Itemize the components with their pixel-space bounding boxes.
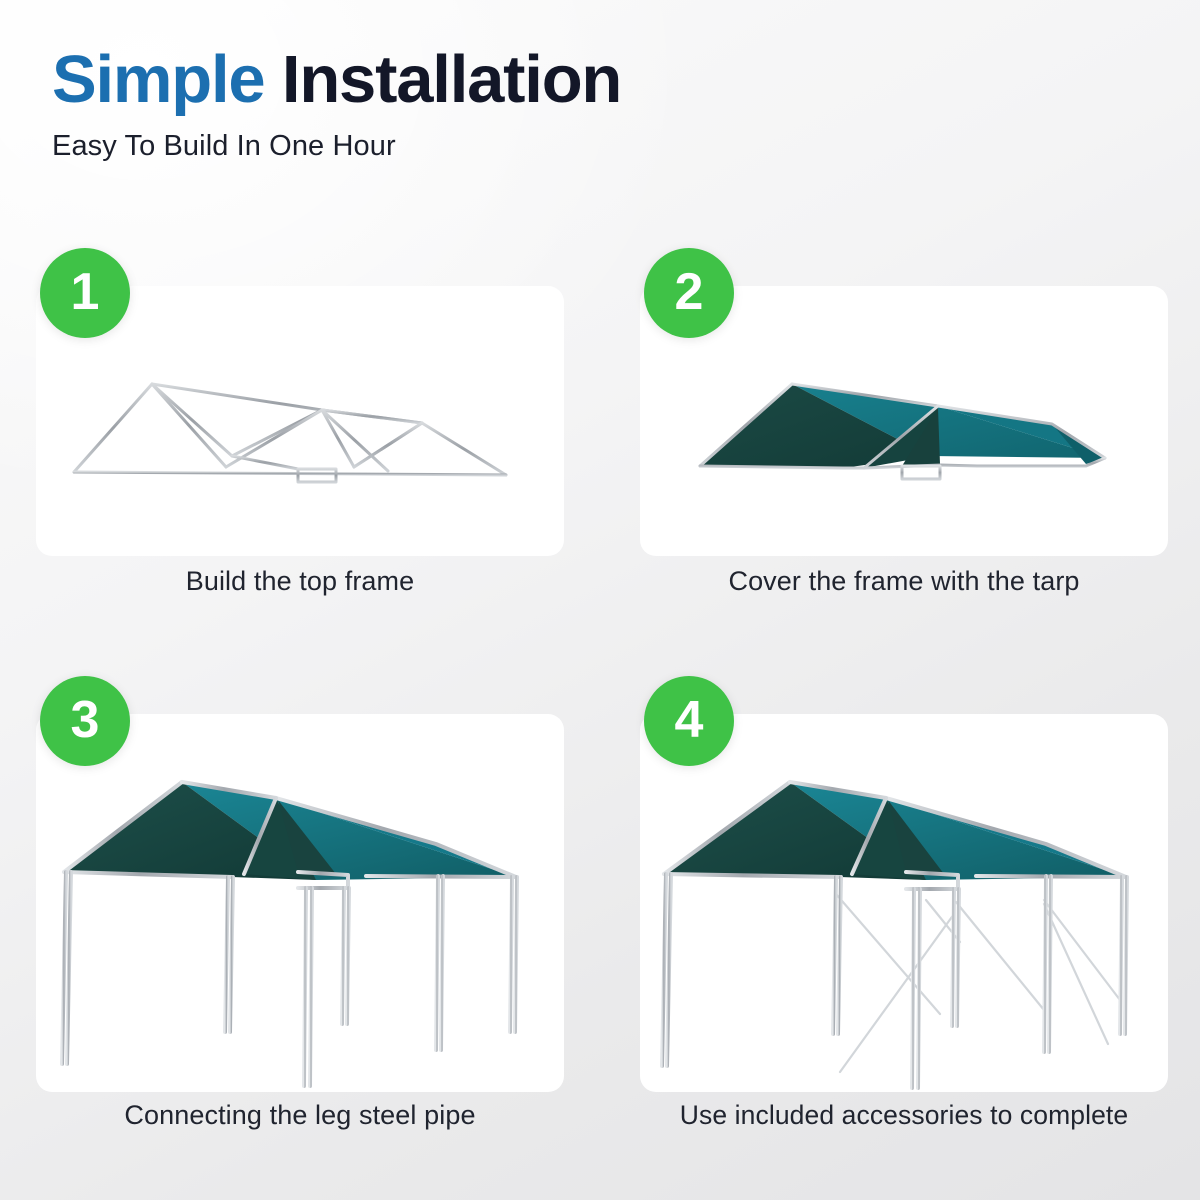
carport-bare-roof-frame-illustration bbox=[36, 286, 564, 556]
step-number-badge-3: 3 bbox=[40, 676, 130, 766]
step-card-3: 3 Connecting the leg steel pipe bbox=[36, 676, 564, 1106]
page-header: Simple Installation Easy To Build In One… bbox=[52, 46, 1152, 163]
step-3-image-card bbox=[36, 714, 564, 1092]
step-caption-4: Use included accessories to complete bbox=[640, 1100, 1168, 1131]
carport-roof-with-tarp-illustration bbox=[640, 286, 1168, 556]
step-card-1: 1 Build the top frame bbox=[36, 248, 564, 678]
carport-with-legs-illustration bbox=[36, 714, 564, 1092]
page-title-accent: Simple bbox=[52, 42, 264, 117]
steps-grid: 1 Build the top frame bbox=[0, 248, 1200, 1178]
step-4-image-card bbox=[640, 714, 1168, 1092]
step-number-badge-2: 2 bbox=[644, 248, 734, 338]
step-caption-1: Build the top frame bbox=[36, 566, 564, 597]
step-1-image-card bbox=[36, 286, 564, 556]
page-subtitle: Easy To Build In One Hour bbox=[52, 130, 1152, 163]
carport-complete-with-bracing-illustration bbox=[640, 714, 1168, 1092]
step-caption-2: Cover the frame with the tarp bbox=[640, 566, 1168, 597]
step-2-image-card bbox=[640, 286, 1168, 556]
step-number-badge-1: 1 bbox=[40, 248, 130, 338]
step-caption-3: Connecting the leg steel pipe bbox=[36, 1100, 564, 1131]
step-number-badge-4: 4 bbox=[644, 676, 734, 766]
page-title: Simple Installation bbox=[52, 46, 1152, 114]
page-title-main: Installation bbox=[282, 42, 621, 117]
step-card-4: 4 Use included accessories to complete bbox=[640, 676, 1168, 1106]
step-card-2: 2 Cover the frame with the tarp bbox=[640, 248, 1168, 678]
